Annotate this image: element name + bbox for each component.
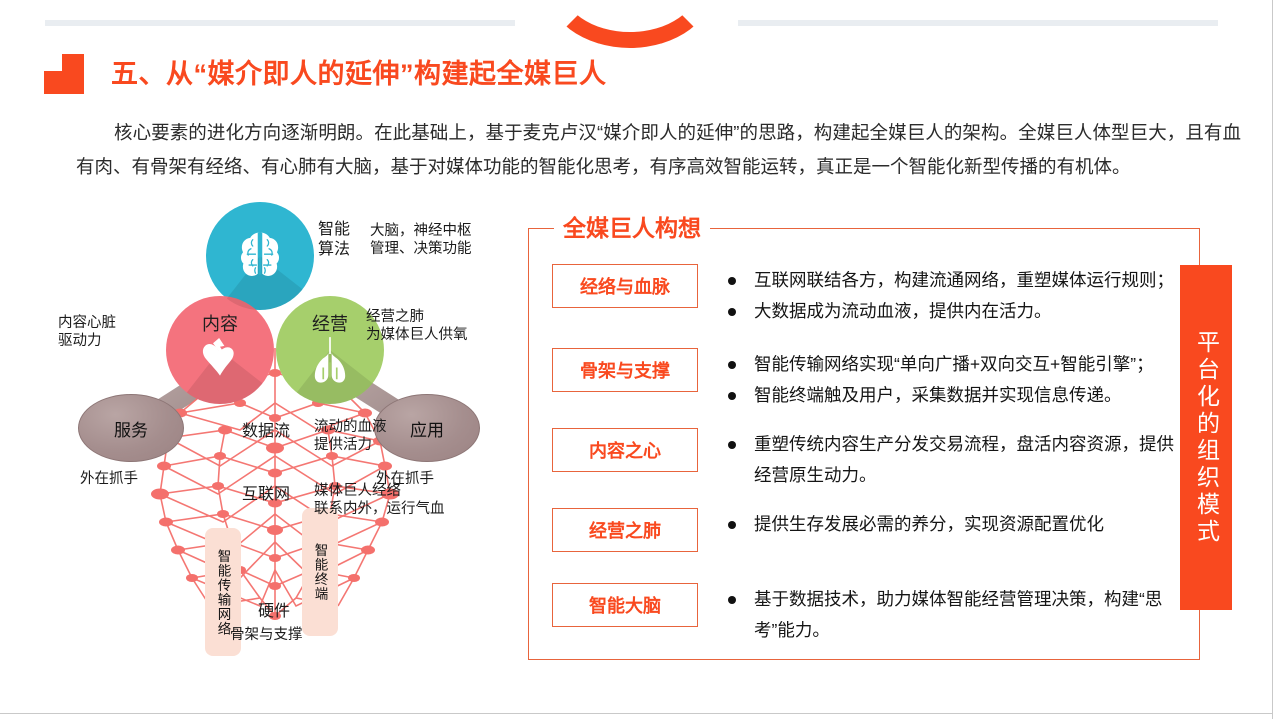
bullet-item: 重塑传统内容生产分发交易流程，盘活内容资源，提供经营原生动力。: [722, 429, 1184, 491]
internet-label: 互联网: [242, 485, 290, 505]
slide-right-edge: [1272, 0, 1273, 719]
pillar-smart-terminal: 智能终端: [302, 508, 338, 636]
panel-title: 全媒巨人构想: [554, 209, 710, 243]
panel-row: 骨架与支撑智能传输网络实现“单向广播+双向交互+智能引擎”；智能终端触及用户，采…: [552, 348, 1154, 411]
data-flow-label: 数据流: [242, 422, 290, 442]
bullet-item: 提供生存发展必需的养分，实现资源配置优化: [722, 509, 1104, 540]
bullet-list: 智能传输网络实现“单向广播+双向交互+智能引擎”；智能终端触及用户，采集数据并实…: [722, 348, 1154, 411]
brain-icon: [231, 227, 289, 285]
service-caption: 外在抓手: [80, 470, 138, 488]
全媒巨人-diagram: 内容 经营 服务 应用 智能传输网络 智能终端 智能 算法 大脑，神经中枢 管理…: [60, 198, 520, 668]
heart-caption: 内容心脏 驱动力: [58, 314, 116, 350]
operation-lung-node: 经营: [276, 296, 384, 404]
brain-caption: 大脑，神经中枢 管理、决策功能: [370, 222, 472, 258]
slide-canvas: 五、从“媒介即人的延伸”构建起全媒巨人 核心要素的进化方向逐渐明朗。在此基础上，…: [0, 0, 1283, 719]
brain-label: 智能 算法: [318, 220, 350, 260]
bullet-item: 基于数据技术，助力媒体智能经营管理决策，构建“思考”能力。: [722, 584, 1184, 646]
top-rule-right: [738, 20, 1218, 26]
bullet-item: 互联网联结各方，构建流通网络，重塑媒体运行规则；: [722, 265, 1174, 296]
heart-icon: [192, 331, 248, 387]
bullet-item: 大数据成为流动血液，提供内在活力。: [722, 296, 1174, 327]
lungs-icon: [303, 332, 357, 386]
bullet-list: 重塑传统内容生产分发交易流程，盘活内容资源，提供经营原生动力。: [722, 428, 1184, 491]
bullet-item: 智能传输网络实现“单向广播+双向交互+智能引擎”；: [722, 349, 1154, 380]
chip-2[interactable]: 内容之心: [552, 428, 698, 472]
panel-row: 经营之肺提供生存发展必需的养分，实现资源配置优化: [552, 508, 1104, 552]
panel-row: 智能大脑基于数据技术，助力媒体智能经营管理决策，构建“思考”能力。: [552, 583, 1184, 646]
title-marker-icon: [44, 54, 84, 94]
bullet-list: 提供生存发展必需的养分，实现资源配置优化: [722, 508, 1104, 540]
heart-node-label: 内容: [166, 310, 274, 336]
hardware-caption: 骨架与支撑: [230, 626, 303, 644]
chip-0[interactable]: 经络与血脉: [552, 264, 698, 308]
page-title: 五、从“媒介即人的延伸”构建起全媒巨人: [111, 52, 607, 91]
lung-node-label: 经营: [276, 310, 384, 336]
content-heart-node: 内容: [166, 296, 274, 404]
bullet-item: 智能终端触及用户，采集数据并实现信息传递。: [722, 380, 1154, 411]
chip-1[interactable]: 骨架与支撑: [552, 348, 698, 392]
internet-caption: 媒体巨人经络 联系内外，运行气血: [314, 482, 445, 518]
service-node: 服务: [78, 394, 184, 462]
body-paragraph: 核心要素的进化方向逐渐明朗。在此基础上，基于麦克卢汉“媒介即人的延伸”的思路，构…: [76, 116, 1241, 184]
brain-node: [206, 202, 314, 310]
slide-bottom-edge: [0, 713, 1273, 714]
chip-3[interactable]: 经营之肺: [552, 508, 698, 552]
chip-4[interactable]: 智能大脑: [552, 583, 698, 627]
panel-row: 内容之心重塑传统内容生产分发交易流程，盘活内容资源，提供经营原生动力。: [552, 428, 1184, 491]
bullet-list: 互联网联结各方，构建流通网络，重塑媒体运行规则；大数据成为流动血液，提供内在活力…: [722, 264, 1174, 327]
panel-row: 经络与血脉互联网联结各方，构建流通网络，重塑媒体运行规则；大数据成为流动血液，提…: [552, 264, 1174, 327]
hardware-label: 硬件: [258, 602, 290, 622]
data-flow-caption: 流动的血液 提供活力: [314, 418, 387, 454]
top-rule-left: [45, 20, 515, 26]
apply-node: 应用: [374, 394, 480, 462]
orange-arc-decoration: [545, 0, 715, 48]
platform-org-mode-bar: 平台化的组织模式: [1180, 265, 1232, 610]
bullet-list: 基于数据技术，助力媒体智能经营管理决策，构建“思考”能力。: [722, 583, 1184, 646]
